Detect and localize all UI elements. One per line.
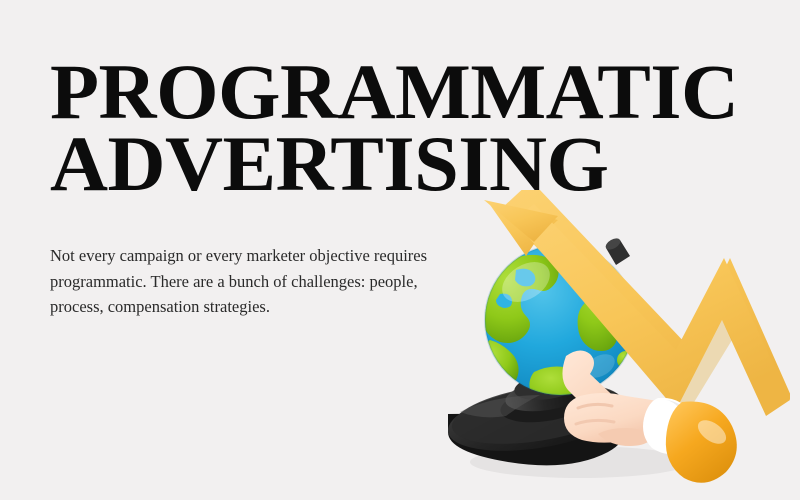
globe-axis-pin — [604, 236, 630, 265]
slide-canvas: PROGRAMMATIC ADVERTISING Not every campa… — [0, 0, 800, 500]
globe-illustration — [430, 190, 790, 500]
page-title: PROGRAMMATIC ADVERTISING — [50, 56, 771, 200]
text-block: PROGRAMMATIC ADVERTISING — [50, 56, 750, 200]
body-paragraph: Not every campaign or every marketer obj… — [50, 243, 470, 320]
